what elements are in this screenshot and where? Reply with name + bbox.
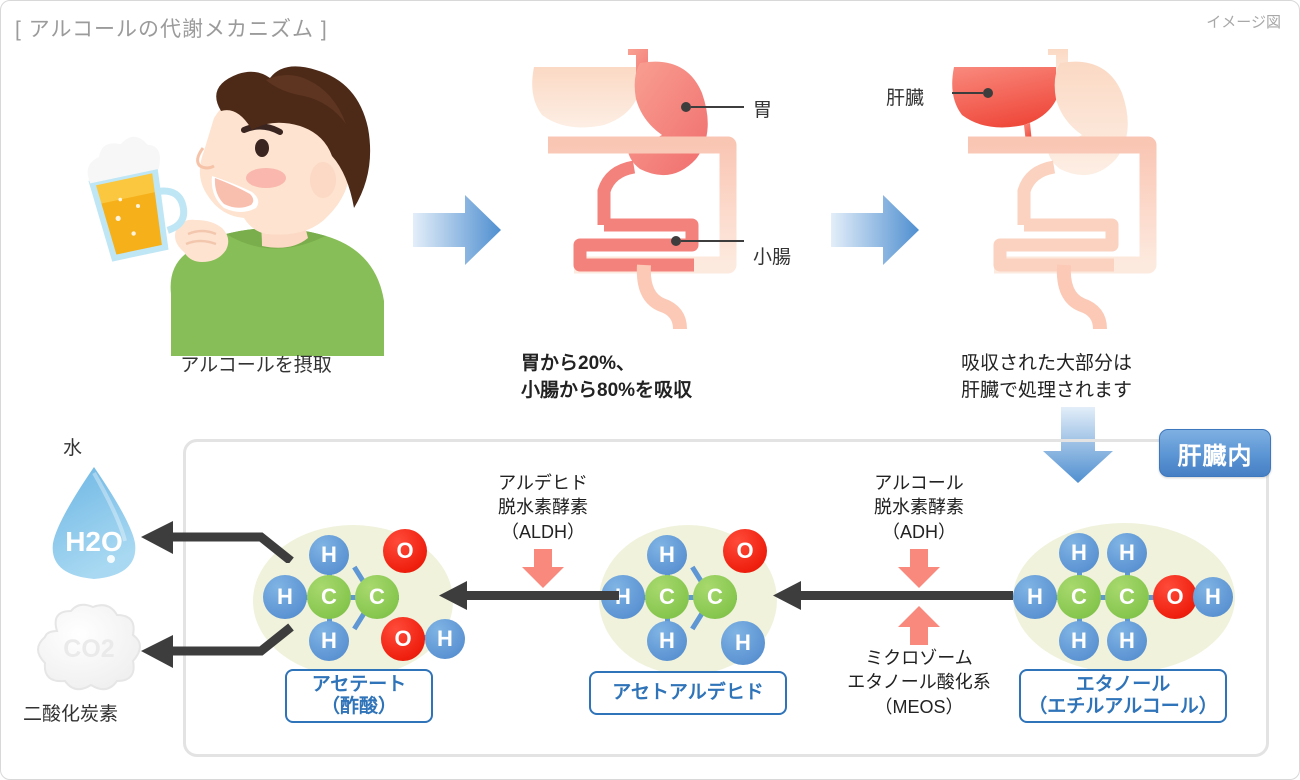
output-arrow-to-water	[141, 513, 301, 563]
enzyme-arrow-down-adh	[897, 549, 941, 594]
output-arrow-to-co2	[141, 621, 301, 671]
atom-c: C	[1105, 575, 1149, 619]
organ-label-liver: 肝臓	[886, 83, 924, 110]
atom-c: C	[645, 575, 689, 619]
co2-cloud-icon: CO2	[29, 601, 149, 697]
atom-h: H	[425, 619, 465, 659]
atom-o: O	[383, 529, 427, 573]
enzyme-arrow-down-aldh	[521, 549, 565, 594]
digestive-system-illustration-2	[936, 49, 1206, 339]
output-label-water: 水	[63, 433, 82, 460]
flow-arrow-right-1	[411, 193, 503, 272]
enzyme-label-adh: アルコール 脱水素酵素 （ADH）	[829, 471, 1009, 544]
atom-h: H	[721, 621, 765, 665]
reaction-arrow-ethanol-to-acetaldehyde	[773, 581, 1013, 611]
page-title: [ アルコールの代謝メカニズム ]	[15, 13, 328, 43]
enzyme-label-meos: ミクロゾーム エタノール酸化系 （MEOS）	[819, 646, 1019, 719]
atom-h: H	[647, 621, 687, 661]
digestive-system-illustration-1	[516, 49, 786, 339]
atom-h: H	[309, 535, 349, 575]
step-caption-liver: 吸収された大部分は 肝臓で処理されます	[961, 351, 1221, 404]
ethanol-molecule: H H H C C O H H H	[1013, 523, 1235, 673]
atom-h: H	[1059, 621, 1099, 661]
atom-c: C	[355, 575, 399, 619]
infographic-root: [ アルコールの代謝メカニズム ] イメージ図	[0, 0, 1300, 780]
enzyme-arrow-up-meos	[897, 606, 941, 651]
flow-arrow-right-2	[829, 193, 921, 272]
image-note-label: イメージ図	[1206, 11, 1281, 32]
enzyme-label-aldh: アルデヒド 脱水素酵素 （ALDH）	[453, 471, 633, 544]
svg-text:CO2: CO2	[63, 635, 114, 663]
step-caption-absorption: 胃から20%、 小腸から80%を吸収	[521, 351, 821, 404]
atom-c: C	[1057, 575, 1101, 619]
atom-o: O	[723, 529, 767, 573]
atom-h: H	[1013, 575, 1057, 619]
step-caption-drink: アルコールを摂取	[111, 353, 401, 379]
atom-h: H	[1107, 621, 1147, 661]
person-drinking-illustration	[76, 56, 406, 356]
acetaldehyde-molecule: H O H C C H H	[599, 525, 777, 675]
liver-interior-badge: 肝臓内	[1159, 429, 1271, 477]
atom-h: H	[647, 535, 687, 575]
acetaldehyde-label: アセトアルデヒド	[589, 671, 787, 715]
atom-o: O	[381, 617, 425, 661]
organ-label-small-intestine: 小腸	[753, 242, 791, 269]
liver-badge-label: 肝臓内	[1178, 436, 1253, 471]
water-drop-icon: H2O	[39, 463, 149, 585]
atom-h: H	[263, 575, 307, 619]
atom-h: H	[1059, 533, 1099, 573]
ethanol-label: エタノール （エチルアルコール）	[1019, 669, 1227, 723]
organ-label-stomach: 胃	[753, 95, 772, 122]
atom-h: H	[309, 621, 349, 661]
atom-h: H	[1193, 577, 1233, 617]
atom-h: H	[1107, 533, 1147, 573]
output-label-co2: 二酸化炭素	[23, 699, 118, 726]
svg-text:H2O: H2O	[65, 526, 123, 557]
acetate-label: アセテート （酢酸）	[285, 669, 433, 723]
atom-c: C	[307, 575, 351, 619]
atom-c: C	[693, 575, 737, 619]
atom-o: O	[1153, 575, 1197, 619]
